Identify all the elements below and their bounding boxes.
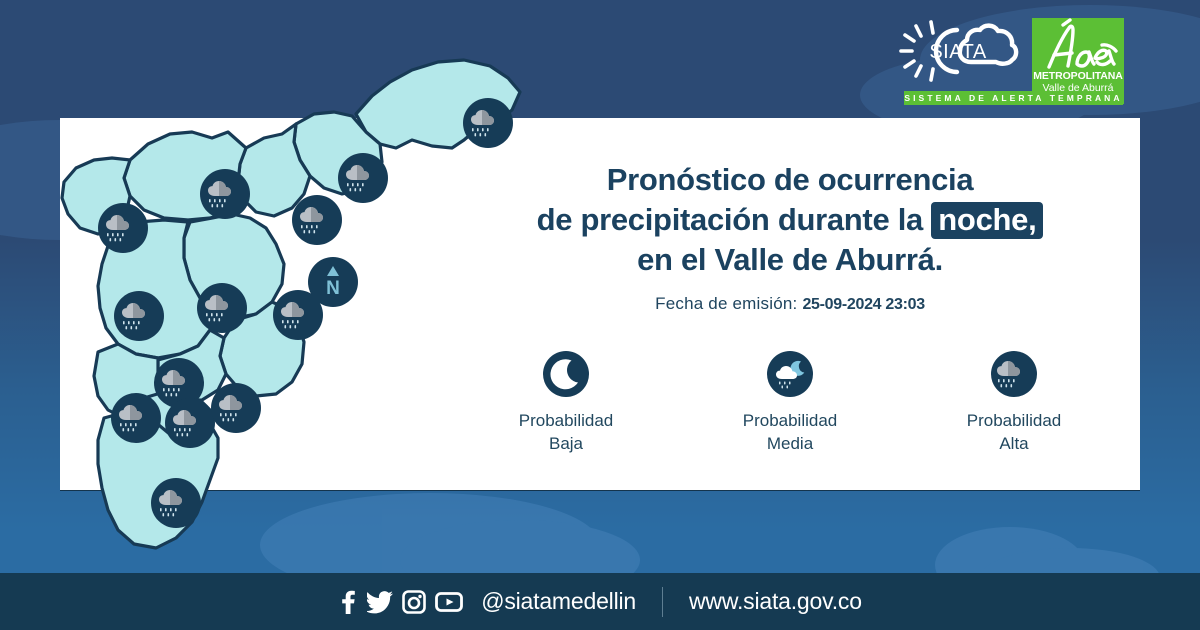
website-url[interactable]: www.siata.gov.co [689, 588, 862, 615]
station-badge[interactable] [210, 382, 262, 434]
siata-tagline-bar: SISTEMA DE ALERTA TEMPRANA [904, 91, 1123, 105]
page-title: Pronóstico de ocurrencia de precipitació… [470, 160, 1110, 280]
station-badge[interactable] [196, 282, 248, 334]
footer: @siatamedellin www.siata.gov.co [0, 573, 1200, 630]
station-badge[interactable] [199, 168, 251, 220]
twitter-icon[interactable] [367, 590, 393, 614]
legend-label-line1: Probabilidad [715, 409, 865, 432]
legend-label-media: Probabilidad Media [715, 409, 865, 455]
forecast-content: Pronóstico de ocurrencia de precipitació… [470, 160, 1110, 455]
legend-label-line2: Media [715, 432, 865, 455]
title-line-3: en el Valle de Aburrá. [470, 240, 1110, 280]
station-badge[interactable] [462, 97, 514, 149]
compass-rose: N [308, 257, 358, 307]
area-logo-line1: METROPOLITANA [1033, 71, 1123, 82]
emission-date-label: Fecha de emisión: [655, 294, 797, 313]
youtube-icon[interactable] [435, 590, 463, 614]
legend-label-line2: Alta [939, 432, 1089, 455]
cloud-heavy-rain-icon [939, 348, 1089, 400]
title-line-1: Pronóstico de ocurrencia [470, 160, 1110, 200]
legend-label-line1: Probabilidad [491, 409, 641, 432]
title-highlight: noche, [931, 202, 1043, 239]
valle-de-aburra-map: N [60, 52, 530, 572]
station-badge[interactable] [337, 152, 389, 204]
emission-date: Fecha de emisión:25-09-2024 23:03 [470, 294, 1110, 314]
title-line-2: de precipitación durante la noche, [470, 200, 1110, 240]
station-badge[interactable] [164, 397, 216, 449]
station-badge[interactable] [110, 392, 162, 444]
legend-label-line1: Probabilidad [939, 409, 1089, 432]
emission-date-value: 25-09-2024 23:03 [802, 296, 924, 313]
station-badge[interactable] [291, 194, 343, 246]
logo-group: SIATA METROPOLITANA Valle de Aburrá [895, 18, 1130, 110]
legend-item-baja: Probabilidad Baja [491, 348, 641, 455]
station-badge[interactable] [97, 202, 149, 254]
facebook-icon[interactable] [338, 590, 358, 614]
probability-legend: Probabilidad Baja [470, 348, 1110, 455]
siata-logo: SIATA [895, 18, 1023, 86]
svg-text:N: N [326, 278, 340, 299]
social-handle[interactable]: @siatamedellin [481, 588, 636, 615]
infographic-canvas: N Pronóstico de ocurrencia de precipitac… [0, 0, 1200, 630]
siata-wordmark: SIATA [929, 41, 986, 63]
legend-label-alta: Probabilidad Alta [939, 409, 1089, 455]
footer-divider [662, 587, 663, 617]
legend-item-media: Probabilidad Media [715, 348, 865, 455]
cloud-rain-moon-icon [715, 348, 865, 400]
social-links [338, 590, 463, 614]
instagram-icon[interactable] [402, 590, 426, 614]
area-script-mark [1037, 18, 1119, 74]
siata-tagline: SISTEMA DE ALERTA TEMPRANA [904, 93, 1122, 103]
title-line-2-text: de precipitación durante la [537, 202, 923, 237]
legend-label-baja: Probabilidad Baja [491, 409, 641, 455]
station-badge[interactable] [113, 290, 165, 342]
legend-item-alta: Probabilidad Alta [939, 348, 1089, 455]
moon-icon [491, 348, 641, 400]
station-badge[interactable] [150, 477, 202, 529]
legend-label-line2: Baja [491, 432, 641, 455]
